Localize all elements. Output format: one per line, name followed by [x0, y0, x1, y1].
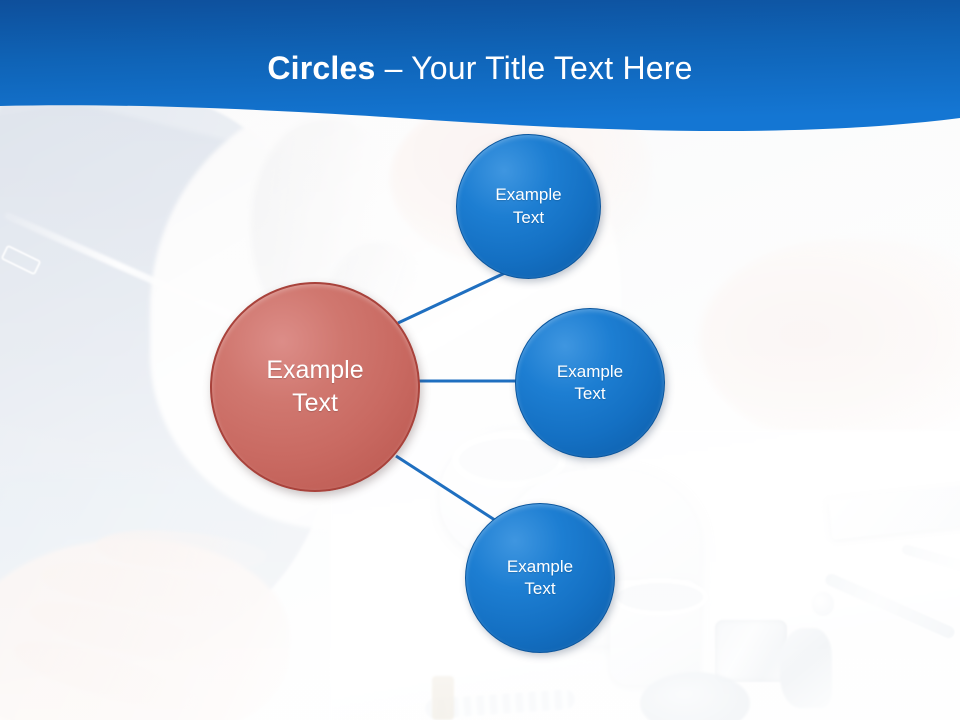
center-circle-label: ExampleText [256, 354, 373, 420]
satellite-circle-bottom-label: ExampleText [497, 556, 583, 601]
satellite-top-label-line1: Example [495, 185, 561, 204]
satellite-circle-middle[interactable]: ExampleText [515, 308, 665, 458]
satellite-bottom-label-line1: Example [507, 557, 573, 576]
satellite-circle-bottom[interactable]: ExampleText [465, 503, 615, 653]
connector-center-to-bottom [396, 456, 501, 524]
center-circle-node[interactable]: ExampleText [210, 282, 420, 492]
center-circle-label-line2: Text [292, 389, 338, 417]
circles-diagram: ExampleText ExampleText ExampleText Exam… [0, 0, 960, 720]
satellite-middle-label-line1: Example [557, 362, 623, 381]
satellite-bottom-label-line2: Text [524, 579, 555, 598]
satellite-circle-top[interactable]: ExampleText [456, 134, 601, 279]
satellite-top-label-line2: Text [513, 208, 544, 227]
satellite-circle-top-label: ExampleText [485, 184, 571, 229]
slide-canvas: Circles – Your Title Text Here ExampleTe… [0, 0, 960, 720]
satellite-middle-label-line2: Text [574, 384, 605, 403]
center-circle-label-line1: Example [266, 356, 363, 384]
satellite-circle-middle-label: ExampleText [547, 361, 633, 406]
